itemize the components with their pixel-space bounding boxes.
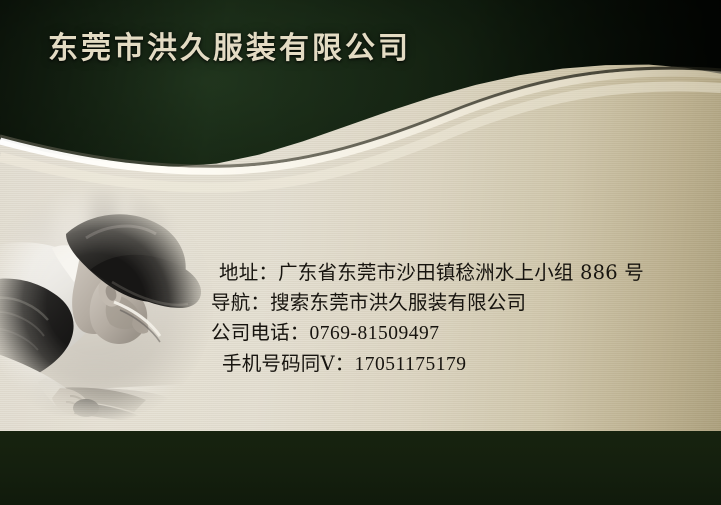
mobile-phone-line: 手机号码同V：17051175179 <box>211 349 721 380</box>
tailor-photo <box>0 186 226 422</box>
company-phone-line: 公司电话：0769-81509497 <box>211 318 721 349</box>
address-line: 地址：广东省东莞市沙田镇稔洲水上小组 886 号 <box>211 258 721 288</box>
mobile-phone-value: 17051175179 <box>354 354 466 375</box>
company-phone-label: 公司电话： <box>211 321 310 344</box>
mobile-phone-label: 手机号码同V： <box>222 352 354 375</box>
tailor-figure <box>0 186 226 422</box>
navigation-line: 导航：搜索东莞市洪久服装有限公司 <box>211 288 721 318</box>
bottom-green-band <box>0 431 721 505</box>
contact-info-block: 地址：广东省东莞市沙田镇稔洲水上小组 886 号 导航：搜索东莞市洪久服装有限公… <box>211 258 721 380</box>
company-banner-image: 东莞市洪久服装有限公司 地址：广东省东莞市沙田镇稔洲水上小组 886 号 导航：… <box>0 0 721 505</box>
company-name-title: 东莞市洪久服装有限公司 <box>48 23 411 67</box>
company-phone-value: 0769-81509497 <box>310 323 440 344</box>
